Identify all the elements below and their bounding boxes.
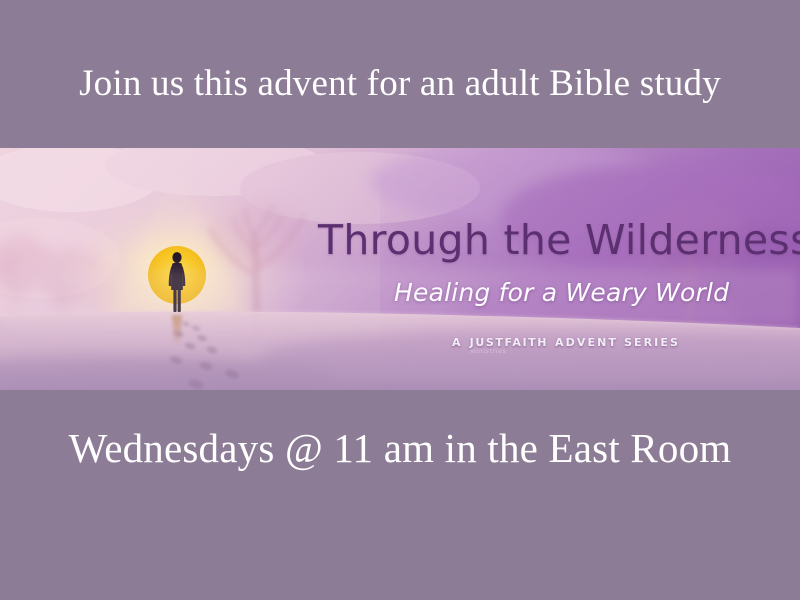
credit-submark: ministries <box>470 348 506 355</box>
banner-subtitle: Healing for a Weary World <box>394 278 729 307</box>
credit-prefix: A <box>452 336 463 349</box>
slide-canvas: Join us this advent for an adult Bible s… <box>0 0 800 600</box>
advent-series-banner-image: Through the Wilderness Healing for a Wea… <box>0 148 800 390</box>
banner-title: Through the Wilderness <box>318 216 800 264</box>
credit-suffix: ADVENT SERIES <box>555 336 680 349</box>
event-details: Wednesdays @ 11 am in the East Room <box>0 424 800 472</box>
page-title: Join us this advent for an adult Bible s… <box>0 62 800 105</box>
wilderness-sunrise-illustration <box>0 148 800 390</box>
